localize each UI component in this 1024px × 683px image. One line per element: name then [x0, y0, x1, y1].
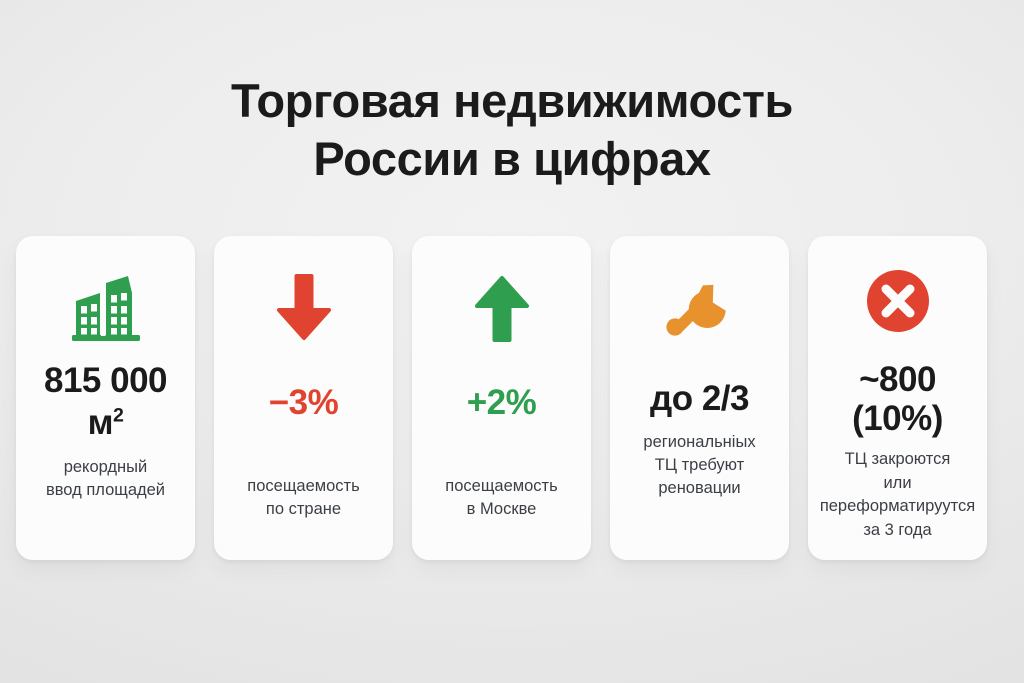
stat-caption-line: региональніых	[643, 431, 755, 454]
stat-caption-line: посещаемость	[247, 475, 359, 498]
circle-cross-icon	[865, 262, 931, 341]
office-building-icon	[70, 262, 142, 354]
stat-card-renovation: до 2/3 региональніых ТЦ требуют реноваци…	[610, 236, 789, 560]
stat-card-footfall-moscow: +2% посещаемость в Москве	[412, 236, 591, 560]
wrench-icon	[664, 262, 736, 354]
page-title: Торговая недвижимость России в цифрах	[0, 72, 1024, 189]
stat-value-unit: м2	[88, 403, 124, 442]
stat-caption-line: по стране	[247, 498, 359, 521]
stat-value-unit-text: м	[88, 403, 113, 442]
arrow-down-icon	[273, 262, 335, 354]
stat-card-record-area: 815 000 м2 рекордный ввод площадей	[16, 236, 195, 560]
arrow-up-icon	[471, 262, 533, 354]
stat-card-closures: ~800 (10%) ТЦ закроются или переформатир…	[808, 236, 987, 560]
stat-card-row: 815 000 м2 рекордный ввод площадей −3% п…	[16, 236, 1008, 560]
stat-caption: ТЦ закроются или переформатируутся за 3 …	[820, 448, 975, 542]
stat-value: ~800	[859, 361, 936, 400]
stat-caption: рекордный ввод площадей	[46, 456, 165, 503]
stat-caption-line: ввод площадей	[46, 479, 165, 502]
stat-caption-line: за 3 года	[820, 519, 975, 542]
stat-caption: посещаемость по стране	[247, 475, 359, 522]
stat-value: 815 000	[44, 362, 167, 401]
stat-caption-line: или	[820, 472, 975, 495]
stat-caption-line: реновации	[643, 477, 755, 500]
stat-caption-line: ТЦ закроются	[820, 448, 975, 471]
stat-caption-line: в Москве	[445, 498, 557, 521]
stat-value: −3%	[269, 384, 339, 423]
stat-caption: региональніых ТЦ требуют реновации	[643, 431, 755, 501]
page-title-line-2: России в цифрах	[0, 130, 1024, 188]
stat-value-secondary: (10%)	[852, 399, 943, 438]
page-title-line-1: Торговая недвижимость	[0, 72, 1024, 130]
stat-value: +2%	[467, 384, 537, 423]
stat-caption-line: посещаемость	[445, 475, 557, 498]
stat-card-footfall-country: −3% посещаемость по стране	[214, 236, 393, 560]
stat-value-unit-exponent: 2	[113, 404, 123, 426]
stat-caption: посещаемость в Москве	[445, 475, 557, 522]
stat-caption-line: рекордный	[46, 456, 165, 479]
stat-value: до 2/3	[650, 380, 749, 419]
stat-caption-line: ТЦ требуют	[643, 454, 755, 477]
infographic-canvas: Торговая недвижимость России в цифрах	[0, 0, 1024, 683]
stat-caption-line: переформатируутся	[820, 495, 975, 518]
